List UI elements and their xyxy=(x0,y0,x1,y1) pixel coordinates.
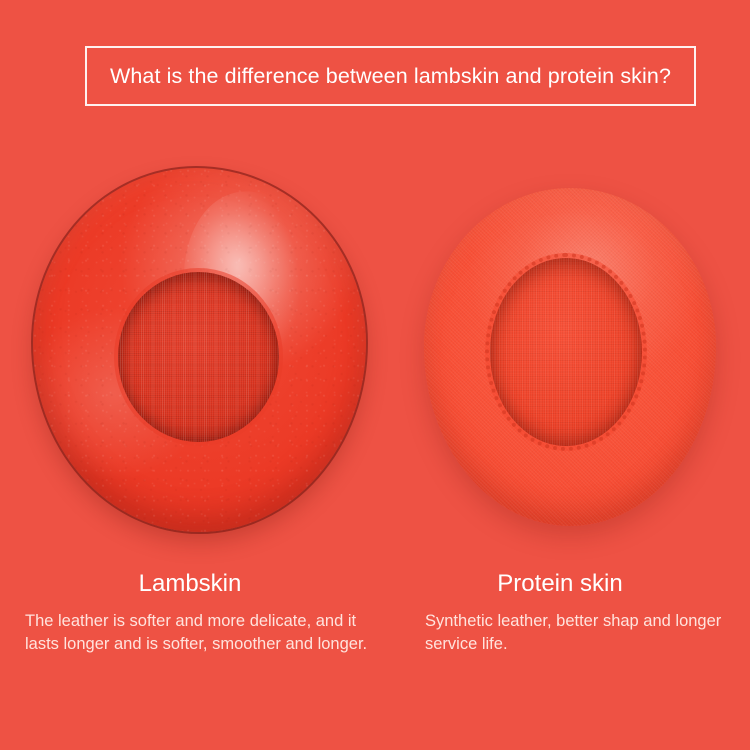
protein-skin-heading: Protein skin xyxy=(400,570,720,598)
protein-skin-stitched-ring xyxy=(485,253,647,451)
lambskin-heading: Lambskin xyxy=(0,570,380,598)
protein-skin-inner-opening xyxy=(490,258,642,446)
protein-skin-mesh-fabric xyxy=(490,258,642,446)
lambskin-inner-opening xyxy=(118,272,279,442)
protein-skin-earpad-photo xyxy=(424,188,716,526)
product-comparison-infographic: What is the difference between lambskin … xyxy=(0,0,750,750)
protein-skin-description: Synthetic leather, better shap and longe… xyxy=(425,610,725,656)
header-title-box: What is the difference between lambskin … xyxy=(85,46,696,106)
lambskin-mesh-fabric xyxy=(118,272,279,442)
lambskin-description: The leather is softer and more delicate,… xyxy=(25,610,370,656)
page-title: What is the difference between lambskin … xyxy=(110,64,671,89)
lambskin-earpad-photo xyxy=(33,168,366,532)
